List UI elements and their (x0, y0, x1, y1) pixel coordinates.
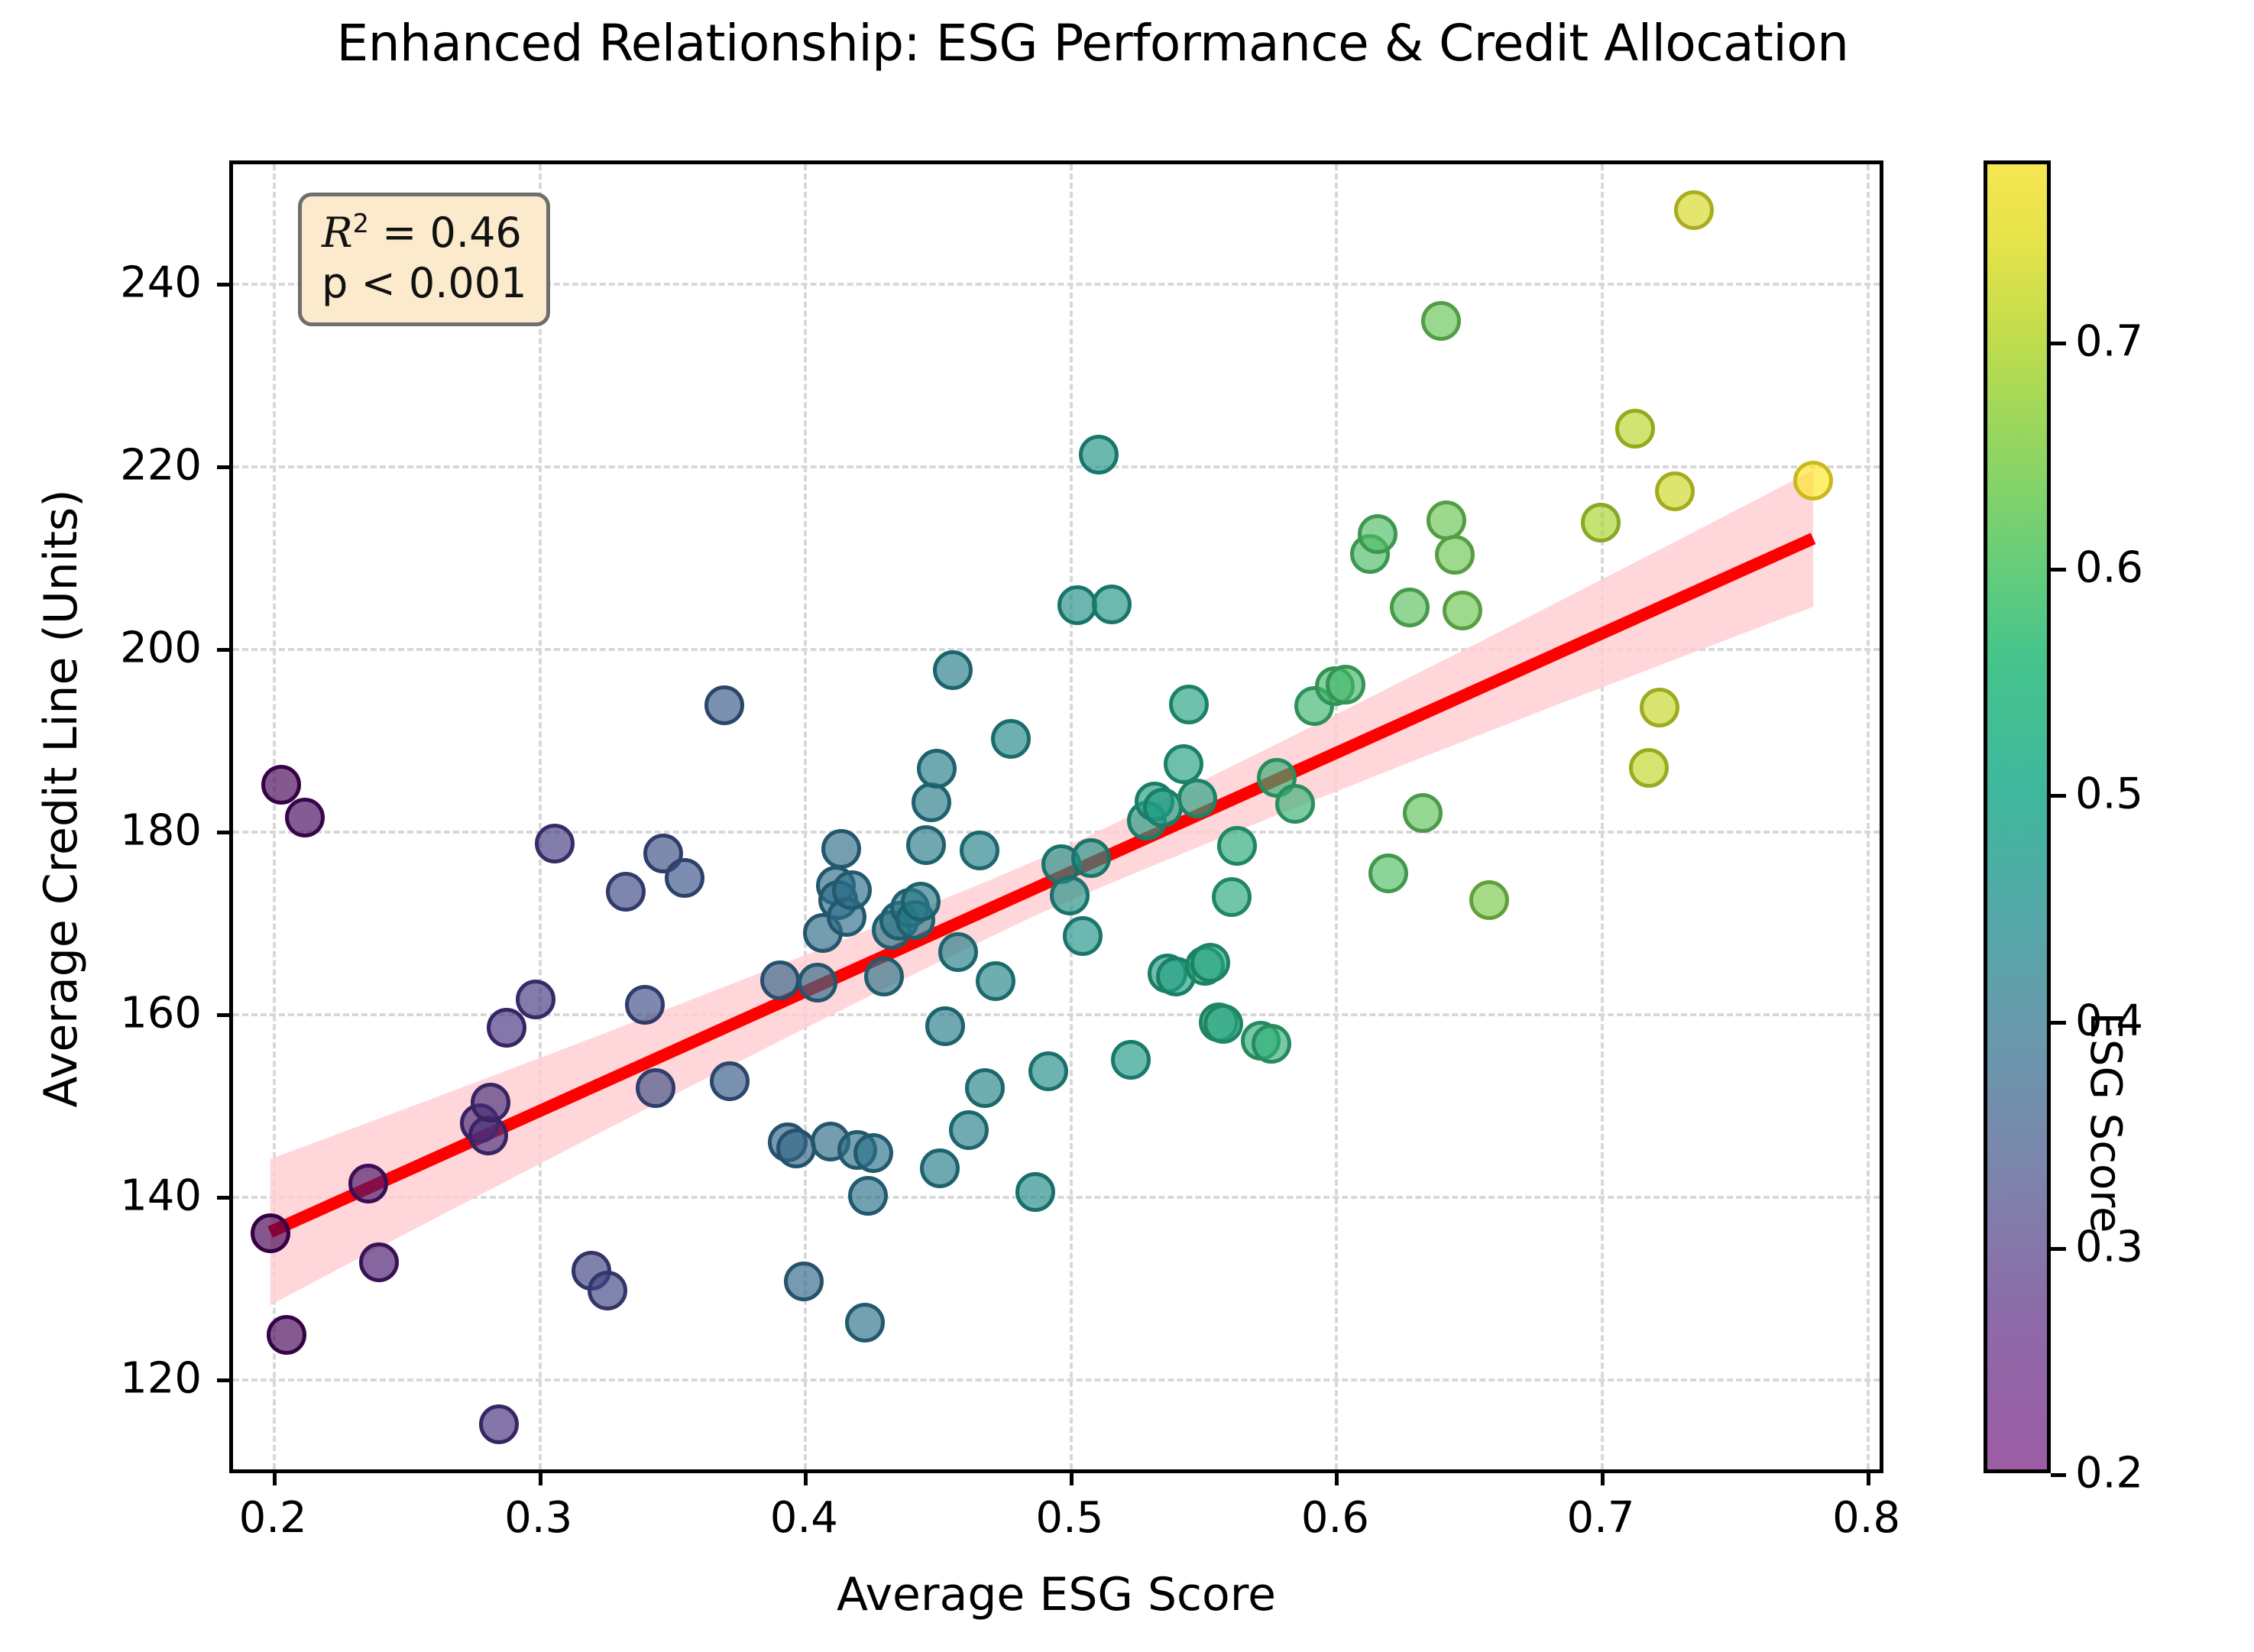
scatter-point (487, 1008, 526, 1048)
plot-inner: R2 = 0.46 p < 0.001 (233, 164, 1880, 1469)
scatter-point (1469, 880, 1509, 920)
x-tick-mark (1601, 1473, 1605, 1485)
scatter-point (1358, 514, 1397, 554)
scatter-point (1435, 535, 1475, 575)
scatter-point (251, 1213, 290, 1253)
scatter-point (845, 1303, 885, 1343)
x-tick-mark (804, 1473, 808, 1485)
colorbar-tick-label: 0.7 (2075, 316, 2143, 366)
scatter-point (588, 1271, 627, 1310)
x-tick-mark (273, 1473, 277, 1485)
scatter-point (479, 1404, 519, 1444)
chart-figure: Enhanced Relationship: ESG Performance &… (0, 0, 2254, 1652)
scatter-point (1252, 1024, 1291, 1064)
plot-area: R2 = 0.46 p < 0.001 (229, 160, 1883, 1473)
colorbar-tick-mark (2051, 1247, 2066, 1251)
scatter-point (784, 1262, 824, 1301)
scatter-point (665, 858, 704, 898)
x-tick-label: 0.6 (1301, 1493, 1369, 1543)
scatter-point (1092, 585, 1132, 624)
scatter-point (960, 831, 999, 870)
x-tick-mark (1867, 1473, 1870, 1485)
x-tick-label: 0.5 (1035, 1493, 1103, 1543)
y-tick-mark (217, 283, 229, 287)
y-tick-mark (217, 465, 229, 469)
scatter-point (848, 1176, 888, 1216)
scatter-point (1443, 591, 1482, 630)
scatter-point (1164, 744, 1203, 784)
scatter-point (1793, 461, 1833, 500)
scatter-point (938, 932, 978, 972)
scatter-point (920, 1148, 960, 1188)
scatter-point (1326, 665, 1365, 705)
scatter-point (1629, 748, 1669, 788)
scatter-point (1177, 779, 1217, 818)
colorbar-tick-mark (2051, 568, 2066, 572)
y-tick-mark (217, 1196, 229, 1200)
scatter-point (853, 1133, 893, 1173)
colorbar-tick-label: 0.5 (2075, 769, 2143, 819)
x-tick-label: 0.3 (504, 1493, 572, 1543)
scatter-point (1050, 876, 1090, 915)
scatter-point (1057, 585, 1097, 625)
scatter-point (1581, 503, 1621, 543)
y-tick-mark (217, 1378, 229, 1382)
scatter-point (1063, 916, 1103, 956)
scatter-point (1217, 826, 1257, 866)
scatter-point (1111, 1040, 1151, 1080)
colorbar (1984, 160, 2051, 1473)
p-value-text: p < 0.001 (322, 259, 526, 308)
colorbar-tick-mark (2051, 342, 2066, 345)
scatter-point (1640, 688, 1679, 727)
scatter-point (267, 1315, 306, 1355)
scatter-point (1203, 1004, 1243, 1044)
scatter-point (1169, 685, 1209, 724)
y-tick-label: 240 (64, 258, 202, 308)
scatter-point (261, 765, 301, 805)
scatter-point (1390, 588, 1430, 627)
colorbar-tick-mark (2051, 1473, 2066, 1477)
x-tick-label: 0.8 (1832, 1493, 1900, 1543)
colorbar-label: ESG Score (2081, 817, 2130, 1428)
scatter-point (285, 798, 325, 837)
scatter-point (1212, 877, 1252, 917)
x-tick-label: 0.2 (239, 1493, 307, 1543)
x-tick-label: 0.4 (770, 1493, 838, 1543)
scatter-point (1655, 471, 1695, 511)
scatter-points (233, 164, 1880, 1469)
r-exponent: 2 (353, 209, 369, 238)
scatter-point (471, 1083, 510, 1122)
scatter-point (1674, 190, 1714, 230)
x-axis-label: Average ESG Score (229, 1568, 1883, 1621)
scatter-point (359, 1242, 399, 1282)
x-tick-mark (539, 1473, 542, 1485)
x-tick-mark (1335, 1473, 1339, 1485)
scatter-point (516, 980, 555, 1019)
scatter-point (991, 719, 1031, 759)
colorbar-gradient (1984, 160, 2051, 1473)
x-tick-mark (1070, 1473, 1074, 1485)
scatter-point (710, 1061, 750, 1101)
scatter-point (1079, 435, 1119, 475)
scatter-point (1615, 409, 1655, 449)
scatter-point (925, 1006, 965, 1046)
scatter-point (625, 985, 665, 1025)
scatter-point (535, 824, 575, 863)
stats-annotation-box: R2 = 0.46 p < 0.001 (298, 193, 550, 326)
scatter-point (1427, 500, 1466, 540)
colorbar-tick-label: 0.2 (2075, 1449, 2143, 1498)
y-axis-label: Average Credit Line (Units) (34, 378, 88, 1219)
page-title: Enhanced Relationship: ESG Performance &… (0, 14, 2185, 73)
x-tick-label: 0.7 (1567, 1493, 1635, 1543)
colorbar-tick-mark (2051, 1021, 2066, 1025)
colorbar-tick-label: 0.6 (2075, 543, 2143, 593)
scatter-point (1368, 854, 1408, 893)
scatter-point (1143, 788, 1183, 828)
scatter-point (917, 749, 957, 789)
scatter-point (1015, 1172, 1055, 1212)
scatter-point (1071, 838, 1111, 878)
scatter-point (901, 882, 941, 922)
scatter-point (832, 870, 872, 910)
y-tick-mark (217, 648, 229, 652)
scatter-point (1275, 784, 1315, 824)
y-tick-mark (217, 1013, 229, 1017)
scatter-point (1421, 301, 1461, 341)
scatter-point (965, 1068, 1005, 1108)
scatter-point (949, 1110, 989, 1150)
r-squared-text: R2 = 0.46 (322, 209, 526, 258)
scatter-point (933, 650, 973, 690)
scatter-point (864, 957, 904, 996)
scatter-point (1403, 793, 1443, 833)
y-tick-label: 120 (64, 1353, 202, 1403)
scatter-point (912, 782, 951, 822)
scatter-point (1190, 943, 1230, 983)
scatter-point (798, 963, 837, 1003)
colorbar-tick-mark (2051, 794, 2066, 798)
scatter-point (976, 961, 1015, 1001)
y-tick-mark (217, 831, 229, 834)
scatter-point (776, 1129, 816, 1168)
scatter-point (1028, 1051, 1068, 1091)
scatter-point (606, 872, 646, 912)
r-symbol: R (322, 209, 353, 257)
scatter-point (704, 685, 744, 725)
r-squared-value: = 0.46 (369, 209, 522, 257)
scatter-point (821, 829, 861, 869)
scatter-point (906, 825, 946, 865)
scatter-point (636, 1068, 675, 1108)
scatter-point (348, 1164, 388, 1203)
scatter-point (760, 960, 800, 1000)
